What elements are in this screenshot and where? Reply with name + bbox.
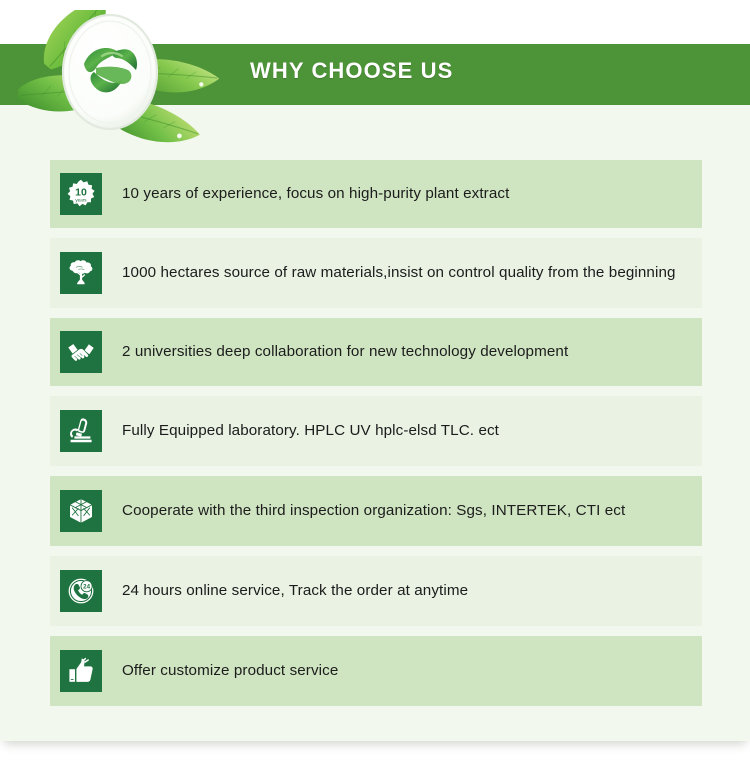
list-item[interactable]: Cooperate with the third inspection orga… xyxy=(50,476,702,546)
list-item-text: Fully Equipped laboratory. HPLC UV hplc-… xyxy=(122,420,688,442)
tree-icon xyxy=(60,252,102,294)
phone-24h-icon: 24 xyxy=(60,570,102,612)
list-item[interactable]: Offer customize product service xyxy=(50,636,702,706)
list-item-text: Offer customize product service xyxy=(122,660,688,682)
cube-box-icon xyxy=(60,490,102,532)
thumbs-up-icon xyxy=(60,650,102,692)
page-root: WHY CHOOSE US 10 years 10 years of exper… xyxy=(0,0,750,766)
list-item-text: 24 hours online service, Track the order… xyxy=(122,580,688,602)
ten-years-badge-icon: 10 years xyxy=(60,173,102,215)
icon-24-label: 24 xyxy=(83,583,90,590)
list-item-text: 2 universities deep collaboration for ne… xyxy=(122,341,688,363)
icon-years-label: years xyxy=(75,197,87,202)
microscope-icon xyxy=(60,410,102,452)
handshake-icon xyxy=(60,331,102,373)
list-item[interactable]: 1000 hectares source of raw materials,in… xyxy=(50,238,702,308)
list-item[interactable]: 2 universities deep collaboration for ne… xyxy=(50,318,702,386)
list-item[interactable]: 24 24 hours online service, Track the or… xyxy=(50,556,702,626)
list-item-text: 10 years of experience, focus on high-pu… xyxy=(122,183,688,205)
list-item-text: Cooperate with the third inspection orga… xyxy=(122,500,688,522)
feature-list: 10 years 10 years of experience, focus o… xyxy=(50,160,702,716)
list-item[interactable]: Fully Equipped laboratory. HPLC UV hplc-… xyxy=(50,396,702,466)
leaf-circle-logo xyxy=(18,10,233,145)
page-title: WHY CHOOSE US xyxy=(250,58,453,84)
list-item[interactable]: 10 years 10 years of experience, focus o… xyxy=(50,160,702,228)
list-item-text: 1000 hectares source of raw materials,in… xyxy=(122,262,688,284)
